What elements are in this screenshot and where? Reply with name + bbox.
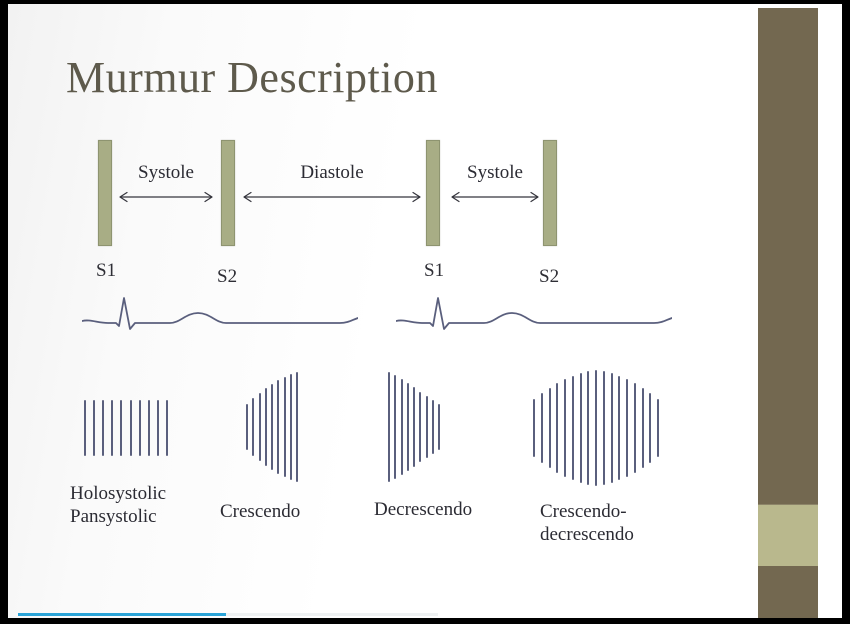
murmur-label-holosystolic: HolosystolicPansystolic bbox=[70, 482, 166, 528]
sidebar-band-dark-top bbox=[758, 8, 818, 504]
murmur-line bbox=[618, 376, 620, 480]
interval-label: Systole bbox=[118, 162, 214, 184]
murmur-label-line: Crescendo- bbox=[540, 500, 634, 523]
slide-canvas: Murmur Description S1S2S1S2SystoleDiasto… bbox=[8, 4, 842, 618]
murmur-line bbox=[626, 379, 628, 477]
murmur-shape-crescendo-decrescendo bbox=[533, 370, 659, 486]
murmur-shape-lines bbox=[246, 372, 298, 482]
double-arrow-icon bbox=[118, 190, 214, 204]
murmur-line bbox=[611, 373, 613, 483]
murmur-line bbox=[642, 388, 644, 468]
murmur-line bbox=[407, 383, 409, 471]
sidebar-band-dark-bottom bbox=[758, 566, 818, 618]
heart-sound-label-s2-3: S2 bbox=[539, 266, 559, 288]
heart-sound-bar-s2-3 bbox=[543, 140, 557, 246]
murmur-line bbox=[259, 393, 261, 461]
murmur-line bbox=[166, 400, 168, 456]
interval-systole-2: Systole bbox=[450, 162, 540, 204]
bottom-progress-bar[interactable] bbox=[18, 613, 226, 616]
heart-sound-label-s1-0: S1 bbox=[96, 260, 116, 282]
heart-sound-bar-s1-0 bbox=[98, 140, 112, 246]
murmur-line bbox=[556, 383, 558, 473]
murmur-line bbox=[432, 400, 434, 454]
murmur-line bbox=[587, 371, 589, 485]
murmur-line bbox=[533, 399, 535, 457]
murmur-line bbox=[84, 400, 86, 456]
murmur-line bbox=[649, 393, 651, 463]
murmur-line bbox=[564, 379, 566, 477]
murmur-shape-holosystolic bbox=[84, 400, 168, 456]
murmur-label-decrescendo: Decrescendo bbox=[374, 498, 472, 521]
murmur-label-line: Holosystolic bbox=[70, 482, 166, 505]
heart-sound-bar-s2-1 bbox=[221, 140, 235, 246]
murmur-line bbox=[265, 388, 267, 466]
murmur-label-crescendo-decrescendo: Crescendo-decrescendo bbox=[540, 500, 634, 546]
murmur-line bbox=[549, 388, 551, 468]
murmur-line bbox=[102, 400, 104, 456]
murmur-shape-lines bbox=[388, 372, 440, 482]
page-title: Murmur Description bbox=[66, 52, 438, 103]
murmur-line bbox=[93, 400, 95, 456]
murmur-line bbox=[657, 399, 659, 457]
murmur-line bbox=[572, 376, 574, 480]
murmur-line bbox=[419, 392, 421, 462]
murmur-line bbox=[401, 379, 403, 475]
murmur-line bbox=[284, 377, 286, 477]
slide-root: Murmur Description S1S2S1S2SystoleDiasto… bbox=[0, 0, 850, 624]
murmur-line bbox=[120, 400, 122, 456]
murmur-line bbox=[438, 404, 440, 450]
murmur-label-line: decrescendo bbox=[540, 523, 634, 546]
murmur-label-line: Decrescendo bbox=[374, 498, 472, 521]
interval-label: Systole bbox=[450, 162, 540, 184]
murmur-line bbox=[246, 404, 248, 450]
murmur-line bbox=[271, 384, 273, 470]
murmur-line bbox=[603, 371, 605, 485]
murmur-label-crescendo: Crescendo bbox=[220, 500, 300, 523]
murmur-line bbox=[252, 398, 254, 456]
murmur-line bbox=[394, 375, 396, 479]
heart-sound-label-s1-2: S1 bbox=[424, 260, 444, 282]
murmur-shape-decrescendo bbox=[388, 372, 440, 482]
murmur-label-line: Crescendo bbox=[220, 500, 300, 523]
murmur-label-line: Pansystolic bbox=[70, 505, 166, 528]
murmur-line bbox=[139, 400, 141, 456]
murmur-line bbox=[111, 400, 113, 456]
murmur-line bbox=[595, 370, 597, 486]
murmur-line bbox=[580, 373, 582, 483]
murmur-line bbox=[130, 400, 132, 456]
murmur-line bbox=[426, 396, 428, 458]
murmur-line bbox=[277, 380, 279, 474]
ecg-trace-0 bbox=[82, 292, 358, 332]
murmur-shape-lines bbox=[533, 370, 659, 486]
heart-sound-label-s2-1: S2 bbox=[217, 266, 237, 288]
double-arrow-icon bbox=[242, 190, 422, 204]
murmur-line bbox=[296, 372, 298, 482]
heart-sound-bar-s1-2 bbox=[426, 140, 440, 246]
interval-systole-0: Systole bbox=[118, 162, 214, 204]
murmur-line bbox=[634, 383, 636, 473]
murmur-shape-lines bbox=[84, 400, 168, 456]
murmur-line bbox=[388, 372, 390, 482]
murmur-line bbox=[148, 400, 150, 456]
murmur-line bbox=[157, 400, 159, 456]
sidebar-band-light bbox=[758, 504, 818, 566]
interval-diastole-1: Diastole bbox=[242, 162, 422, 204]
murmur-line bbox=[541, 393, 543, 463]
ecg-trace-1 bbox=[396, 292, 672, 332]
double-arrow-icon bbox=[450, 190, 540, 204]
murmur-line bbox=[290, 374, 292, 480]
interval-label: Diastole bbox=[242, 162, 422, 184]
murmur-shape-crescendo bbox=[246, 372, 298, 482]
murmur-line bbox=[413, 387, 415, 467]
